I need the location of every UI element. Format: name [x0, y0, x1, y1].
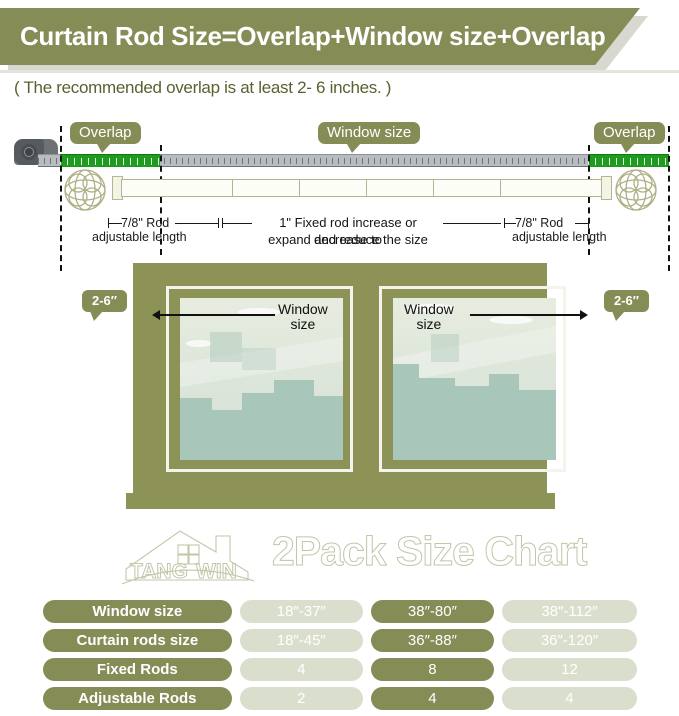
building-shape [489, 374, 519, 460]
infographic-root: Curtain Rod Size=Overlap+Window size+Ove… [0, 0, 679, 716]
tape-overlap-segment-right [588, 154, 669, 167]
table-cell: 4 [240, 658, 363, 681]
table-cell: 4 [502, 687, 637, 710]
tape-overlap-segment-left [60, 154, 160, 167]
rod-segment-adjustable-left [121, 179, 233, 197]
logo-text-left: TANG [130, 560, 188, 583]
fixed-rod-note-line2: expand and reduce the size [258, 231, 438, 248]
window-size-label-left-line1: Window [278, 301, 328, 317]
callout-window-size-label: Window size [327, 124, 411, 141]
subtitle-text: ( The recommended overlap is at least 2-… [14, 78, 391, 98]
rod-segment-adjustable-right [500, 179, 602, 197]
dim-line-right-c [575, 223, 589, 224]
table-cell: 36″-88″ [371, 629, 494, 652]
dim-line-left-a [108, 223, 122, 224]
dim-line-right-a [443, 223, 501, 224]
table-cell: 2 [240, 687, 363, 710]
building-shape [180, 398, 212, 460]
finial-right-icon [609, 168, 669, 218]
callout-tail-icon [346, 142, 362, 153]
overlap-gap-callout-right: 2-6″ [604, 290, 649, 312]
building-shape [242, 348, 276, 370]
dim-label-adjustable-right-line2: adjustable length [512, 230, 607, 244]
window-size-label-left: Window size [278, 302, 328, 332]
building-shape [314, 396, 343, 460]
curtain-rod-illustration [0, 168, 679, 218]
table-cell: 12 [502, 658, 637, 681]
rod-segment-fixed-2 [299, 179, 367, 197]
house-logo-icon: TANG WIN [120, 524, 270, 586]
table-row-header: Fixed Rods [43, 658, 232, 681]
table-row: Curtain rods size 18″-45″ 36″-88″ 36″-12… [43, 629, 637, 652]
building-shape [519, 390, 556, 460]
cloud-icon [489, 316, 533, 324]
table-row: Adjustable Rods 2 4 4 [43, 687, 637, 710]
dim-cap-right-b [588, 218, 589, 228]
building-shape [419, 378, 455, 460]
tape-green-ticks-left [60, 158, 160, 165]
header-banner: Curtain Rod Size=Overlap+Window size+Ove… [0, 8, 648, 65]
window-sill [126, 493, 555, 509]
window-size-arrow-right [580, 310, 588, 320]
window-size-label-right-line2: size [416, 316, 441, 332]
callout-tail-icon [612, 311, 625, 321]
building-shape [431, 334, 459, 362]
size-chart-title: 2Pack Size Chart [272, 528, 586, 575]
building-shape [393, 364, 419, 460]
logo-text-right: WIN [196, 560, 237, 583]
callout-overlap-right: Overlap [594, 122, 665, 144]
table-cell: 4 [371, 687, 494, 710]
dim-label-adjustable-left-line2: adjustable length [92, 230, 187, 244]
table-cell: 18″-37″ [240, 600, 363, 623]
table-cell: 38″-80″ [371, 600, 494, 623]
rod-segment-fixed-4 [433, 179, 501, 197]
callout-tail-icon [96, 142, 112, 153]
overlap-gap-callout-left: 2-6″ [82, 290, 127, 312]
table-row: Window size 18″-37″ 38″-80″ 38″-112″ [43, 600, 637, 623]
window-size-line-right [470, 314, 580, 316]
table-row-header: Window size [43, 600, 232, 623]
building-shape [210, 332, 242, 362]
window-size-label-left-line2: size [290, 316, 315, 332]
table-row: Fixed Rods 4 8 12 [43, 658, 637, 681]
dim-label-adjustable-right-line1: 7/8" Rod [515, 216, 563, 230]
cloud-icon [186, 340, 212, 347]
window-size-arrow-left [152, 310, 160, 320]
banner-underline [0, 70, 679, 73]
callout-tail-icon [90, 311, 103, 321]
building-shape [212, 410, 242, 460]
rod-segment-fixed-3 [366, 179, 434, 197]
callout-window-size: Window size [318, 122, 420, 144]
size-chart-table: Window size 18″-37″ 38″-80″ 38″-112″ Cur… [43, 600, 637, 716]
rod-segment-fixed-1 [232, 179, 300, 197]
window-size-label-right-line1: Window [404, 301, 454, 317]
building-shape [274, 380, 314, 460]
table-row-header: Curtain rods size [43, 629, 232, 652]
table-cell: 36″-120″ [502, 629, 637, 652]
page-title: Curtain Rod Size=Overlap+Window size+Ove… [20, 8, 605, 65]
table-cell: 18″-45″ [240, 629, 363, 652]
overlap-gap-right-label: 2-6″ [614, 293, 639, 308]
table-cell: 38″-112″ [502, 600, 637, 623]
table-row-header: Adjustable Rods [43, 687, 232, 710]
tape-hub-center-icon [25, 148, 33, 156]
building-shape [455, 386, 489, 460]
table-cell: 8 [371, 658, 494, 681]
window-size-label-right: Window size [404, 302, 454, 332]
building-shape [242, 393, 274, 460]
dim-label-adjustable-left-line1: 7/8" Rod [121, 216, 169, 230]
callout-overlap-right-label: Overlap [603, 124, 656, 141]
dim-cap-left-b [218, 218, 219, 228]
brand-logo: TANG WIN [120, 524, 270, 586]
dim-line-left-b [175, 223, 219, 224]
callout-overlap-left: Overlap [70, 122, 141, 144]
callout-overlap-left-label: Overlap [79, 124, 132, 141]
window-size-line-left [160, 314, 275, 316]
tape-green-ticks-right [588, 158, 669, 165]
dim-line-left-c [222, 223, 252, 224]
overlap-gap-left-label: 2-6″ [92, 293, 117, 308]
finial-left-icon [58, 168, 118, 218]
callout-tail-icon [620, 142, 636, 153]
